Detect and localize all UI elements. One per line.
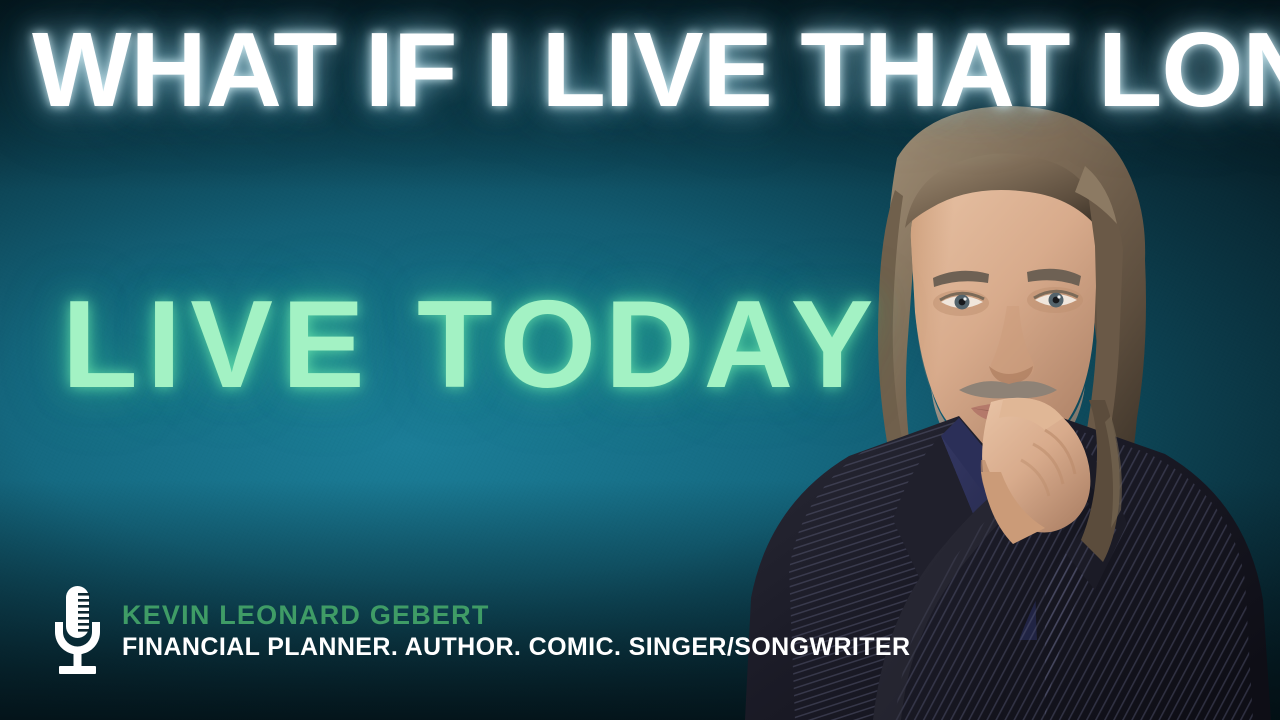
presenter-name: KEVIN LEONARD GEBERT [122,600,910,630]
credit-block: KEVIN LEONARD GEBERT FINANCIAL PLANNER. … [50,584,910,676]
microphone-icon [50,584,104,676]
subline-text: LIVE TODAY [62,280,882,410]
presenter-tagline: FINANCIAL PLANNER. AUTHOR. COMIC. SINGER… [122,633,910,661]
headline-text: WHAT IF I LIVE THAT LONG? [32,14,1242,126]
youtube-thumbnail: WHAT IF I LIVE THAT LONG? LIVE TODAY [0,0,1280,720]
credit-text-group: KEVIN LEONARD GEBERT FINANCIAL PLANNER. … [122,600,910,661]
